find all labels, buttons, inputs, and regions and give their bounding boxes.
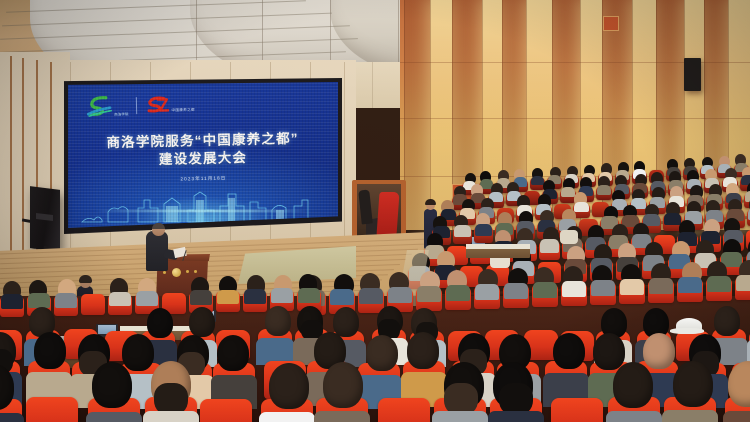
audience-head xyxy=(643,333,675,370)
audience-torso xyxy=(359,288,383,304)
audience-torso xyxy=(136,291,158,306)
audience-light-coat-2 xyxy=(560,230,578,244)
audience-torso xyxy=(109,292,131,307)
audience-torso xyxy=(540,239,559,253)
audience-head xyxy=(217,335,249,372)
audience-head xyxy=(122,334,154,371)
audience-torso xyxy=(606,411,662,422)
audience-torso xyxy=(736,275,750,291)
seat-back xyxy=(26,397,78,422)
audience-torso xyxy=(446,285,470,301)
led-screen: 商洛学院 中国康养之都 商洛学院服务“中国康养之都” 建设发展大会 2023年1… xyxy=(68,82,338,228)
podium-stud-3 xyxy=(194,270,197,273)
led-pixel-grid xyxy=(68,82,338,228)
podium-stud-1 xyxy=(163,271,166,274)
audience-torso xyxy=(259,412,315,422)
audience-torso xyxy=(190,290,212,305)
audience-torso xyxy=(475,284,499,300)
audience-torso xyxy=(55,293,77,308)
auditorium-photo: 商洛学院 中国康养之都 商洛学院服务“中国康养之都” 建设发展大会 2023年1… xyxy=(0,0,750,422)
audience-head xyxy=(333,307,359,337)
wall-panel-2-lit xyxy=(430,0,452,230)
audience-torso xyxy=(388,287,412,303)
audience-torso xyxy=(531,176,544,185)
audience-torso xyxy=(662,410,718,422)
audience-torso xyxy=(217,290,239,305)
audience-torso xyxy=(454,225,471,237)
audience-torso xyxy=(597,185,611,195)
wall-panel-1-dark xyxy=(404,0,430,230)
wall-horizontal-seam-2 xyxy=(400,118,750,119)
audience-head xyxy=(673,361,713,407)
audience-head xyxy=(714,306,740,336)
wall-panel-seam-13 xyxy=(704,0,705,230)
audience-torso xyxy=(330,289,354,305)
audience-torso xyxy=(475,224,492,236)
audience-head xyxy=(189,307,215,337)
audience-torso xyxy=(574,202,589,213)
seat-back xyxy=(378,398,430,422)
seat-back xyxy=(200,399,252,422)
audience-head xyxy=(34,332,66,369)
audience-head xyxy=(553,333,585,370)
audience-torso xyxy=(562,281,586,297)
podium-gold-emblem xyxy=(172,268,181,277)
podium-stud-2 xyxy=(186,270,189,273)
audience-head xyxy=(147,308,173,338)
audience-torso xyxy=(298,288,320,303)
audience-head xyxy=(269,363,309,409)
audience-torso xyxy=(649,278,673,294)
audience-head xyxy=(366,335,398,372)
aisle-usher-hair xyxy=(425,199,436,205)
stage-side-attendant-hair xyxy=(79,275,92,283)
audience-torso xyxy=(707,276,731,292)
audience-torso xyxy=(417,286,441,302)
audience-torso xyxy=(504,283,528,299)
audience-torso xyxy=(620,279,644,295)
audience-torso xyxy=(28,293,50,308)
wall-mounted-speaker-icon xyxy=(684,58,701,91)
audience-head xyxy=(265,306,291,336)
audience-torso xyxy=(664,213,681,225)
audience-torso xyxy=(314,411,370,422)
audience-white-cap-brim xyxy=(670,328,704,334)
audience-head xyxy=(407,332,439,369)
audience-torso xyxy=(432,411,488,422)
red-curtain xyxy=(376,192,399,236)
wall-panel-seam-12 xyxy=(684,0,685,230)
audience-torso xyxy=(678,277,702,293)
audience-head xyxy=(92,362,132,408)
wall-panel-seam-2 xyxy=(430,0,431,230)
audience-torso xyxy=(723,411,750,422)
audience-torso xyxy=(244,289,266,304)
audience-torso xyxy=(488,411,544,422)
audience-torso xyxy=(591,280,615,296)
audience-torso xyxy=(86,412,142,422)
wall-plaque-upper xyxy=(603,16,619,31)
audience-torso xyxy=(0,413,24,422)
audience-head xyxy=(613,362,653,408)
seat-back xyxy=(81,294,105,315)
audience-head xyxy=(323,362,363,408)
podium-speaker-hair xyxy=(152,223,165,229)
audience-torso xyxy=(533,282,557,298)
audience-torso xyxy=(143,411,199,422)
audience-torso xyxy=(1,294,23,309)
audience-torso xyxy=(271,288,293,303)
seat-back xyxy=(551,398,603,422)
audience-head xyxy=(593,333,625,370)
audience-torso xyxy=(561,187,575,197)
press-table-cloth-right xyxy=(466,244,530,249)
